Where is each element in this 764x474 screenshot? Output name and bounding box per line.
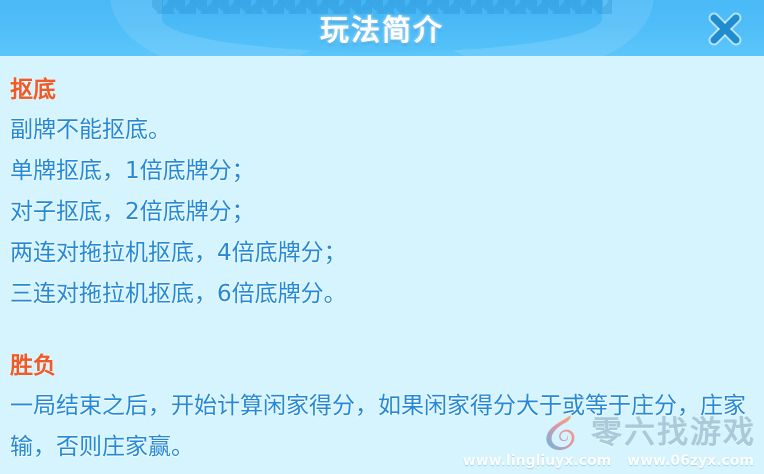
close-button[interactable]: [704, 8, 746, 50]
dialog-title: 玩法简介: [0, 7, 764, 49]
rule-line: 一局结束之后，开始计算闲家得分，如果闲家得分大于或等于庄分，庄家输，否则庄家赢。: [10, 386, 764, 468]
rule-line: 副牌不能抠底。: [10, 110, 764, 151]
section-heading: 胜负: [10, 346, 764, 386]
section-heading: 抠底: [10, 70, 764, 110]
rules-section: 抠底 副牌不能抠底。 单牌抠底，1倍底牌分； 对子抠底，2倍底牌分； 两连对拖拉…: [10, 70, 764, 315]
dialog-header: 玩法简介: [0, 0, 764, 56]
rule-line: 单牌抠底，1倍底牌分；: [10, 151, 764, 192]
rules-section: 胜负 一局结束之后，开始计算闲家得分，如果闲家得分大于或等于庄分，庄家输，否则庄…: [10, 346, 764, 468]
rule-line: 两连对拖拉机抠底，4倍底牌分；: [10, 233, 764, 274]
rules-content: 抠底 副牌不能抠底。 单牌抠底，1倍底牌分； 对子抠底，2倍底牌分； 两连对拖拉…: [0, 56, 764, 474]
game-rules-dialog: 玩法简介 抠底 副牌不能抠底。 单牌抠底，1倍底牌分； 对子抠底，2倍底牌分； …: [0, 0, 764, 474]
rule-line: 对子抠底，2倍底牌分；: [10, 192, 764, 233]
close-x-icon: [704, 8, 746, 50]
rule-line: 三连对拖拉机抠底，6倍底牌分。: [10, 274, 764, 315]
